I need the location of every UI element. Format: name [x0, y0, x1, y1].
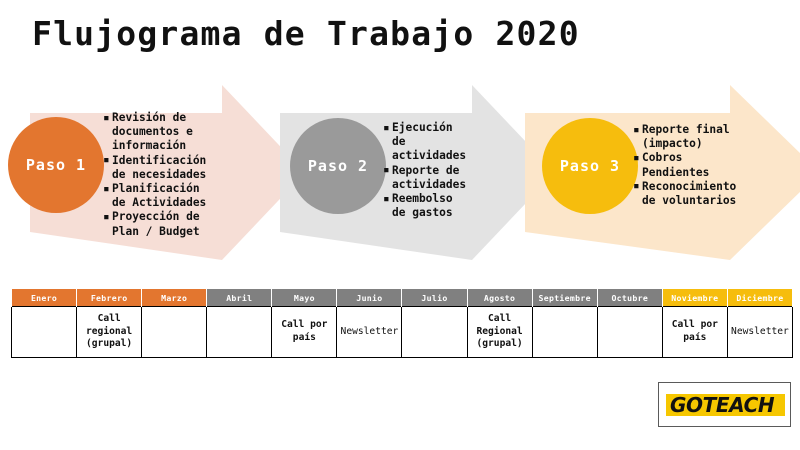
- calendar-activity-cell: [142, 307, 207, 358]
- step-circle-label-3: Paso 3: [560, 157, 620, 175]
- calendar-month-header: Junio: [337, 289, 402, 307]
- step-bullets-2: Ejecución de actividades Reporte de acti…: [383, 121, 503, 220]
- calendar-activity-cell: [12, 307, 77, 358]
- calendar-month-header: Mayo: [272, 289, 337, 307]
- calendar-month-header: Abril: [207, 289, 272, 307]
- calendar-activity-cell: Call Regional (grupal): [467, 307, 532, 358]
- calendar-activity-row: Call regional (grupal) Call por país New…: [12, 307, 793, 358]
- calendar-activity-cell: Call regional (grupal): [77, 307, 142, 358]
- process-step-2: Paso 2 Ejecución de actividades Reporte …: [280, 85, 555, 260]
- bullet-item: Revisión de documentos e información: [103, 111, 235, 154]
- bullet-item: Reconocimiento de voluntarios: [633, 180, 783, 208]
- process-flow-diagram: Paso 1 Revisión de documentos e informac…: [0, 85, 800, 260]
- calendar-month-header: Febrero: [77, 289, 142, 307]
- calendar-month-header: Julio: [402, 289, 467, 307]
- bullet-item: Proyección de Plan / Budget: [103, 210, 235, 238]
- calendar-activity-cell: [532, 307, 597, 358]
- step-circle-2: Paso 2: [290, 118, 386, 214]
- calendar-activity-cell: [402, 307, 467, 358]
- step-circle-label-1: Paso 1: [26, 156, 86, 174]
- bullet-item: Identificación de necesidades: [103, 154, 235, 182]
- logo-text: GOTEACH: [670, 394, 789, 416]
- bullet-item: Ejecución de actividades: [383, 121, 503, 164]
- calendar-activity-cell: Newsletter: [727, 307, 792, 358]
- bullet-item: Planificación de Actividades: [103, 182, 235, 210]
- bullet-item: Reporte final (impacto): [633, 123, 783, 151]
- step-circle-3: Paso 3: [542, 118, 638, 214]
- calendar-activity-cell: Newsletter: [337, 307, 402, 358]
- calendar-month-header: Agosto: [467, 289, 532, 307]
- calendar-month-header: Enero: [12, 289, 77, 307]
- calendar-month-header: Diciembre: [727, 289, 792, 307]
- calendar-header-row: Enero Febrero Marzo Abril Mayo Junio Jul…: [12, 289, 793, 307]
- process-step-3: Paso 3 Reporte final (impacto) Cobros Pe…: [525, 85, 800, 260]
- goteach-logo: GOTEACH: [658, 382, 791, 427]
- calendar-table: Enero Febrero Marzo Abril Mayo Junio Jul…: [11, 289, 793, 358]
- calendar-activity-cell: Call por país: [662, 307, 727, 358]
- bullet-item: Reporte de actividades: [383, 164, 503, 192]
- calendar-month-header: Septiembre: [532, 289, 597, 307]
- calendar-month-header: Noviembre: [662, 289, 727, 307]
- calendar-activity-cell: [597, 307, 662, 358]
- step-circle-label-2: Paso 2: [308, 157, 368, 175]
- calendar-month-header: Octubre: [597, 289, 662, 307]
- page-title: Flujograma de Trabajo 2020: [32, 14, 580, 53]
- step-circle-1: Paso 1: [8, 117, 104, 213]
- calendar-month-header: Marzo: [142, 289, 207, 307]
- step-bullets-1: Revisión de documentos e información Ide…: [103, 111, 235, 239]
- bullet-item: Reembolso de gastos: [383, 192, 503, 220]
- calendar-activity-cell: Call por país: [272, 307, 337, 358]
- process-step-1: Paso 1 Revisión de documentos e informac…: [30, 85, 305, 260]
- calendar-activity-cell: [207, 307, 272, 358]
- step-bullets-3: Reporte final (impacto) Cobros Pendiente…: [633, 123, 783, 208]
- bullet-item: Cobros Pendientes: [633, 151, 783, 179]
